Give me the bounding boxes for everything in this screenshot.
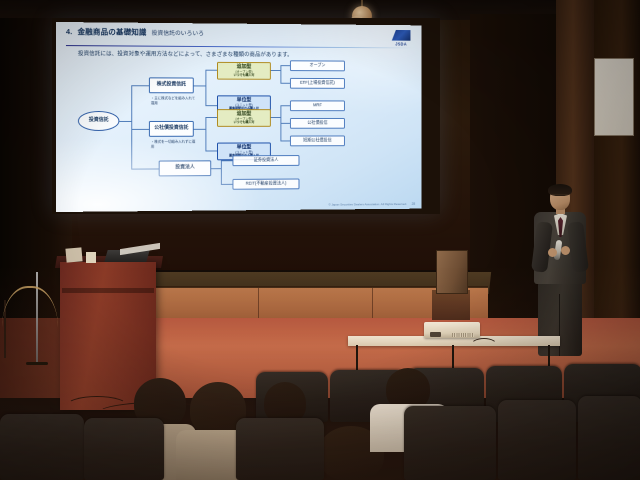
slide-title-number: 4. xyxy=(66,27,73,36)
jsda-logo-text: JSDA xyxy=(389,41,413,46)
seat xyxy=(0,414,84,480)
lecture-hall-scene: 禁煙 NO SMOKING 4. 金融商品の基礎知識 投資信託のいろいろ JSD… xyxy=(0,0,640,480)
right-pillar-outer xyxy=(594,0,640,360)
seat xyxy=(404,406,496,480)
projector-lens-icon xyxy=(430,332,441,337)
connector xyxy=(205,105,217,106)
node-additional-type-1: 追加型 (オープン型) いつでも購入可 xyxy=(217,62,271,80)
leaf-kosai: 公社債投信 xyxy=(290,118,345,129)
connector xyxy=(221,161,222,185)
connector xyxy=(280,123,290,124)
podium-trim xyxy=(62,288,154,293)
projector-vent xyxy=(452,333,474,337)
presenter-glasses-icon xyxy=(551,194,569,199)
connector xyxy=(205,151,217,152)
presenter-leg-seam xyxy=(559,294,560,356)
slide-title-main: 金融商品の基礎知識 xyxy=(77,26,146,38)
connector xyxy=(194,129,206,130)
connector xyxy=(280,83,290,84)
slide-lede: 投資信託には、投資対象や運用方法などによって、さまざまな種類の商品があります。 xyxy=(78,49,416,59)
connector xyxy=(211,168,221,169)
leaf-reit: REIT(不動産投資法人) xyxy=(232,179,299,190)
node-root: 投資信託 xyxy=(78,111,120,131)
projection-screen: 4. 金融商品の基礎知識 投資信託のいろいろ JSDA 投資信託には、投資対象や… xyxy=(56,22,422,212)
node-additional-type-2: 追加型 (オープン型) いつでも購入可 xyxy=(217,109,271,127)
slide-content: 4. 金融商品の基礎知識 投資信託のいろいろ JSDA 投資信託には、投資対象や… xyxy=(56,22,422,212)
speaker-stand xyxy=(432,290,470,320)
connector xyxy=(131,86,149,87)
slide-page-number: 28 xyxy=(412,202,416,206)
connector xyxy=(205,70,206,105)
connector xyxy=(131,86,132,169)
presenter-right-hand xyxy=(561,246,570,255)
podium-cup xyxy=(86,252,96,263)
jsda-logo: JSDA xyxy=(389,30,413,46)
slide-copyright: © Japan Securities Dealers Association. … xyxy=(328,202,406,207)
node-detail: いつでも購入可 xyxy=(234,121,255,124)
leaf-open: オープン xyxy=(290,61,345,72)
connector xyxy=(271,117,281,118)
connector xyxy=(280,106,290,107)
leaf-shoken: 証券投資法人 xyxy=(232,155,299,166)
seat xyxy=(236,418,324,480)
no-smoking-sign: 禁煙 NO SMOKING xyxy=(594,58,634,136)
connector xyxy=(205,70,217,71)
connector xyxy=(205,117,217,118)
connector xyxy=(280,141,290,142)
connector xyxy=(131,169,158,170)
slide-footer: © Japan Securities Dealers Association. … xyxy=(328,202,415,207)
connector xyxy=(221,161,233,162)
connector xyxy=(194,86,206,87)
connector xyxy=(280,65,290,66)
connector xyxy=(280,65,281,83)
connector xyxy=(119,121,131,122)
presenter-left-hand xyxy=(548,248,557,257)
slide-title: 4. 金融商品の基礎知識 投資信託のいろいろ xyxy=(64,26,204,38)
investment-trust-diagram: 投資信託 株式投資信託 ・主に株式などを組み入れて運用 公社債投資信託 ・株式を… xyxy=(64,59,416,199)
table-leg xyxy=(356,345,358,371)
slide-header: 4. 金融商品の基礎知識 投資信託のいろいろ JSDA xyxy=(64,26,416,46)
connector xyxy=(271,70,281,71)
connector xyxy=(131,129,149,130)
connector xyxy=(205,117,206,151)
node-bond-trust: 公社債投資信託 xyxy=(149,121,194,137)
note-bond: ・株式を一切組み入れずに運用 xyxy=(151,140,198,149)
leaf-tanki: 短期公社債投信 xyxy=(290,136,345,147)
jsda-logo-mark-icon xyxy=(392,30,411,41)
microphone-base xyxy=(26,362,48,365)
seat xyxy=(578,396,640,480)
leaf-mrf: MRF xyxy=(290,101,345,112)
seat xyxy=(498,400,576,480)
node-detail: いつでも購入可 xyxy=(234,74,255,77)
seat xyxy=(84,418,164,480)
slide-title-sub: 投資信託のいろいろ xyxy=(152,28,205,37)
node-investment-corp: 投資法人 xyxy=(159,161,212,177)
node-equity-trust: 株式投資信託 xyxy=(149,78,194,94)
note-equity: ・主に株式などを組み入れて運用 xyxy=(151,96,198,105)
leaf-etf: ETF(上場投資信託) xyxy=(290,78,345,89)
projector-cable xyxy=(470,338,498,354)
presenter xyxy=(528,186,590,356)
podium-papers xyxy=(65,247,82,262)
connector xyxy=(221,184,233,185)
loudspeaker xyxy=(436,250,468,294)
